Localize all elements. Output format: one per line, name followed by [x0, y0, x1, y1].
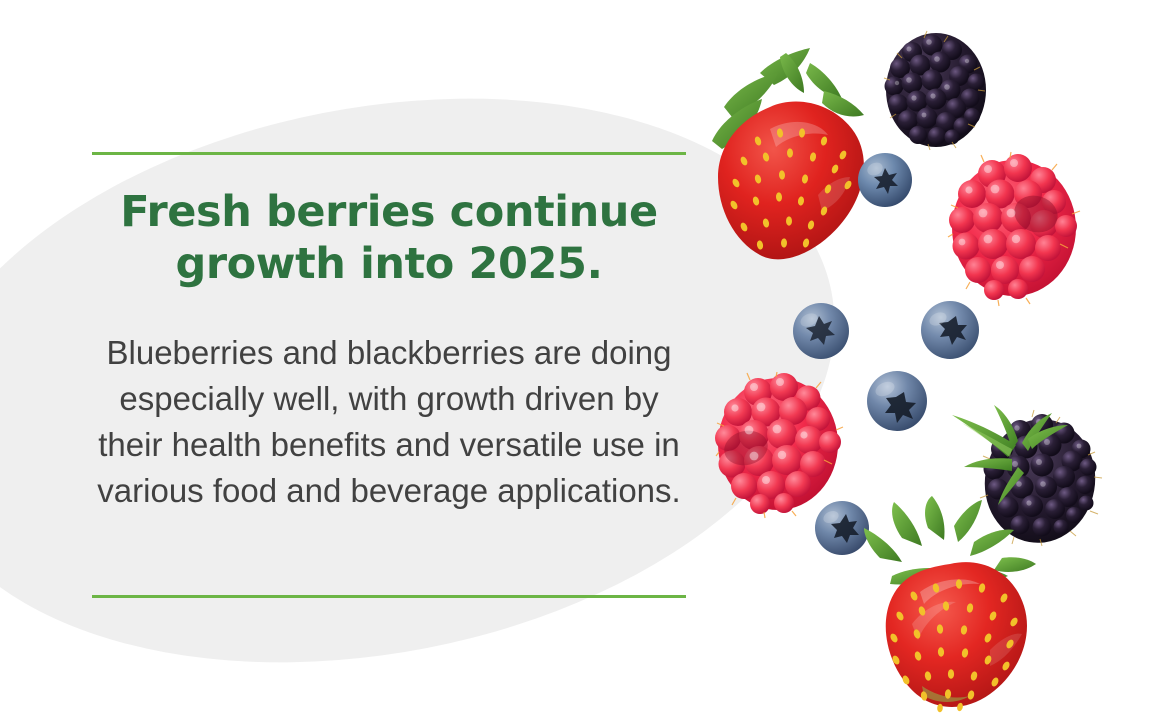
strawberry-icon [862, 498, 1042, 718]
raspberry-icon [716, 372, 844, 514]
blueberry-icon [866, 370, 928, 432]
raspberry-icon [948, 152, 1083, 302]
top-divider [92, 152, 686, 155]
blueberry-icon [792, 302, 850, 360]
page-title: Fresh berries continue growth into 2025. [92, 186, 686, 290]
blueberry-icon [920, 300, 980, 360]
body-paragraph: Blueberries and blackberries are doing e… [92, 330, 686, 514]
bottom-divider [92, 595, 686, 598]
blackberry-icon [882, 28, 990, 150]
poster-canvas: Fresh berries continue growth into 2025.… [0, 0, 1152, 726]
blueberry-icon [857, 152, 913, 208]
